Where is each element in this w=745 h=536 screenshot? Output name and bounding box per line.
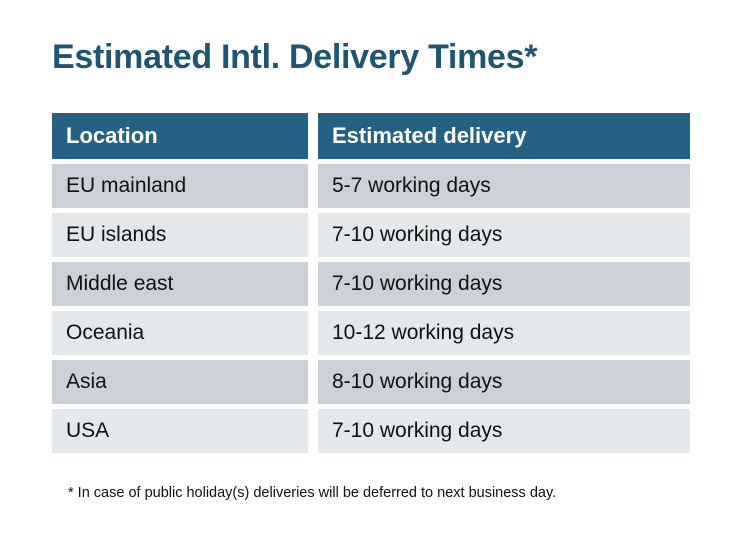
cell-location: Oceania bbox=[52, 311, 308, 355]
cell-delivery: 7-10 working days bbox=[318, 213, 690, 257]
cell-location: Asia bbox=[52, 360, 308, 404]
cell-delivery: 5-7 working days bbox=[318, 164, 690, 208]
cell-delivery: 10-12 working days bbox=[318, 311, 690, 355]
table-row: USA 7-10 working days bbox=[52, 409, 690, 453]
cell-location: USA bbox=[52, 409, 308, 453]
table-row: Asia 8-10 working days bbox=[52, 360, 690, 404]
table-row: EU islands 7-10 working days bbox=[52, 213, 690, 257]
footnote-text: * In case of public holiday(s) deliverie… bbox=[68, 483, 556, 503]
cell-delivery: 8-10 working days bbox=[318, 360, 690, 404]
cell-delivery: 7-10 working days bbox=[318, 409, 690, 453]
page-title: Estimated Intl. Delivery Times* bbox=[52, 36, 537, 78]
cell-delivery: 7-10 working days bbox=[318, 262, 690, 306]
cell-location: Middle east bbox=[52, 262, 308, 306]
cell-location: EU islands bbox=[52, 213, 308, 257]
table-header-row: Location Estimated delivery bbox=[52, 113, 690, 159]
table-row: Middle east 7-10 working days bbox=[52, 262, 690, 306]
delivery-times-table: Location Estimated delivery EU mainland … bbox=[52, 113, 690, 453]
column-header-estimated-delivery: Estimated delivery bbox=[318, 113, 690, 159]
cell-location: EU mainland bbox=[52, 164, 308, 208]
delivery-times-page: Estimated Intl. Delivery Times* Location… bbox=[0, 0, 745, 536]
table-row: EU mainland 5-7 working days bbox=[52, 164, 690, 208]
table-row: Oceania 10-12 working days bbox=[52, 311, 690, 355]
column-header-location: Location bbox=[52, 113, 308, 159]
